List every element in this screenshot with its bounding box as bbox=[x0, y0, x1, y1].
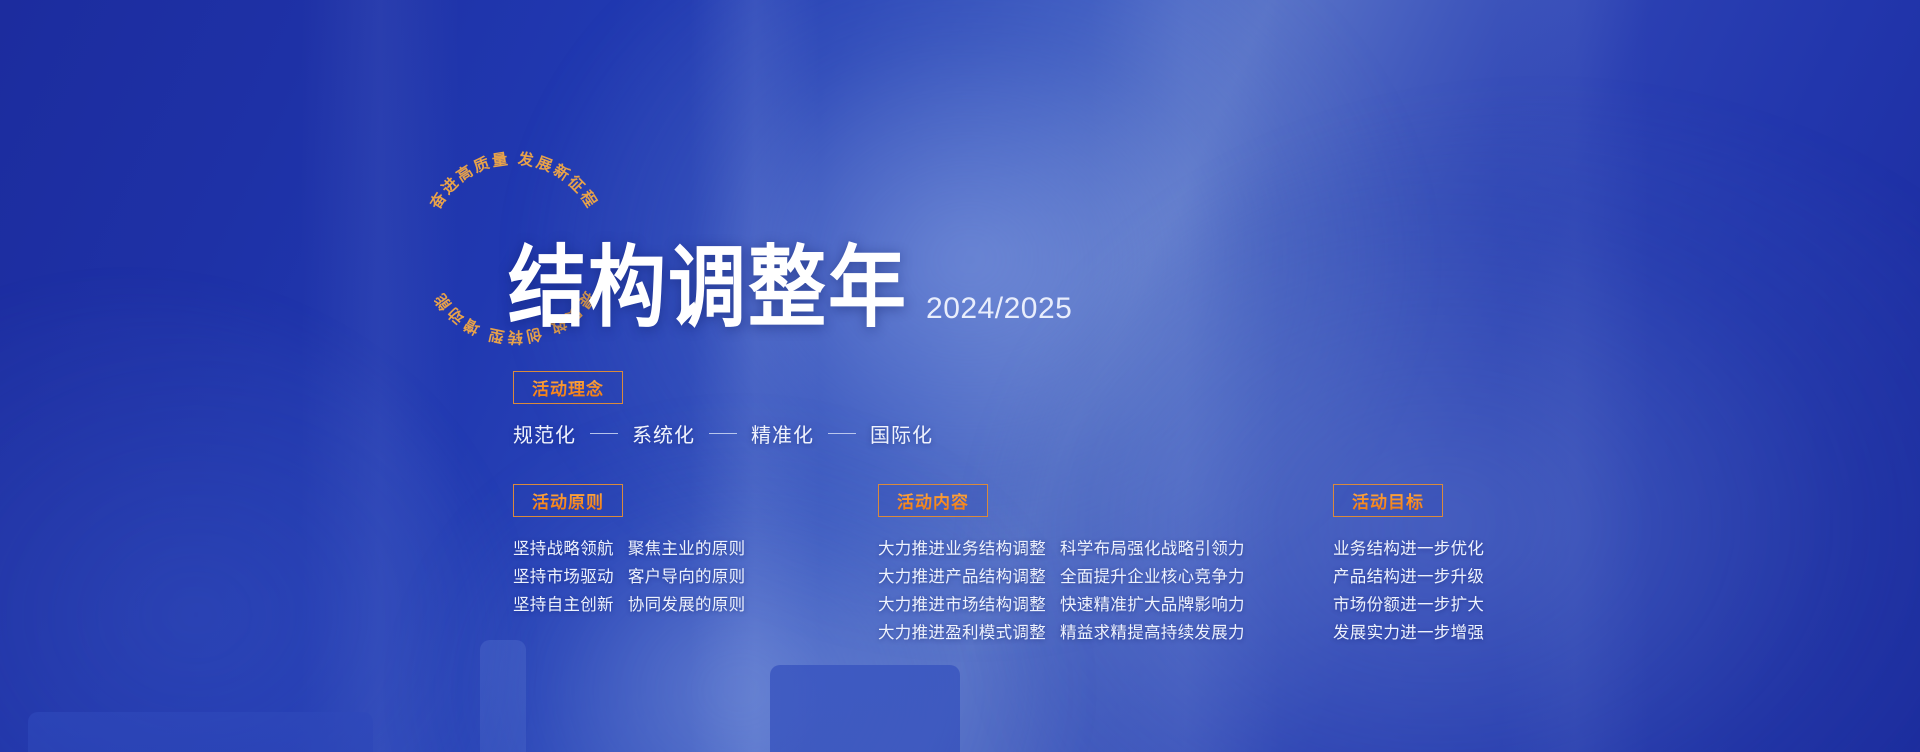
list-item-primary: 业务结构进一步优化 bbox=[1333, 535, 1484, 563]
list-item: 大力推进盈利模式调整精益求精提高持续发展力 bbox=[878, 619, 1245, 647]
list-item: 坚持战略领航聚焦主业的原则 bbox=[513, 535, 745, 563]
concept-badge: 活动理念 bbox=[513, 371, 623, 404]
ring-top-textpath: 奋进高质量 发展新征程 bbox=[425, 149, 601, 214]
column-goals: 活动目标 业务结构进一步优化产品结构进一步升级市场份额进一步扩大发展实力进一步增… bbox=[1333, 484, 1484, 647]
list-item-secondary: 快速精准扩大品牌影响力 bbox=[1060, 591, 1245, 619]
column-badge-wrap: 活动原则 bbox=[513, 484, 745, 517]
column-badge-wrap: 活动目标 bbox=[1333, 484, 1484, 517]
list-item: 坚持市场驱动客户导向的原则 bbox=[513, 563, 745, 591]
list-item-primary: 市场份额进一步扩大 bbox=[1333, 591, 1484, 619]
list-item: 发展实力进一步增强 bbox=[1333, 619, 1484, 647]
list-item-primary: 坚持市场驱动 bbox=[513, 563, 614, 591]
concept-badge-label: 活动理念 bbox=[532, 375, 604, 400]
list-item-primary: 坚持战略领航 bbox=[513, 535, 614, 563]
list-item-secondary: 聚焦主业的原则 bbox=[628, 535, 746, 563]
list-item-primary: 坚持自主创新 bbox=[513, 591, 614, 619]
concept-separator-dash bbox=[590, 433, 618, 435]
concept-keyword: 国际化 bbox=[870, 419, 933, 448]
ring-top-text: 奋进高质量 发展新征程 bbox=[425, 149, 601, 214]
title-row: 结构调整年 2024/2025 bbox=[508, 254, 1072, 332]
list-item-primary: 产品结构进一步升级 bbox=[1333, 563, 1484, 591]
list-item-secondary: 全面提升企业核心竞争力 bbox=[1060, 563, 1245, 591]
list-item: 市场份额进一步扩大 bbox=[1333, 591, 1484, 619]
column-contents: 活动内容 大力推进业务结构调整科学布局强化战略引领力大力推进产品结构调整全面提升… bbox=[878, 484, 1245, 647]
list-item-secondary: 客户导向的原则 bbox=[628, 563, 746, 591]
list-item: 大力推进产品结构调整全面提升企业核心竞争力 bbox=[878, 563, 1245, 591]
column-rows: 坚持战略领航聚焦主业的原则坚持市场驱动客户导向的原则坚持自主创新协同发展的原则 bbox=[513, 535, 745, 619]
column-rows: 大力推进业务结构调整科学布局强化战略引领力大力推进产品结构调整全面提升企业核心竞… bbox=[878, 535, 1245, 647]
list-item: 大力推进业务结构调整科学布局强化战略引领力 bbox=[878, 535, 1245, 563]
column-badge-label: 活动目标 bbox=[1352, 488, 1424, 513]
concept-keyword: 系统化 bbox=[632, 419, 695, 448]
list-item-primary: 发展实力进一步增强 bbox=[1333, 619, 1484, 647]
column-badge-wrap: 活动内容 bbox=[878, 484, 1245, 517]
list-item-primary: 大力推进市场结构调整 bbox=[878, 591, 1046, 619]
list-item: 业务结构进一步优化 bbox=[1333, 535, 1484, 563]
concept-keyword: 精准化 bbox=[751, 419, 814, 448]
list-item: 坚持自主创新协同发展的原则 bbox=[513, 591, 745, 619]
concept-separator-dash bbox=[828, 433, 856, 435]
column-rows: 业务结构进一步优化产品结构进一步升级市场份额进一步扩大发展实力进一步增强 bbox=[1333, 535, 1484, 647]
list-item-primary: 大力推进盈利模式调整 bbox=[878, 619, 1046, 647]
column-principles: 活动原则 坚持战略领航聚焦主业的原则坚持市场驱动客户导向的原则坚持自主创新协同发… bbox=[513, 484, 745, 619]
concept-keyword-list: 规范化系统化精准化国际化 bbox=[513, 419, 933, 448]
column-badge: 活动目标 bbox=[1333, 484, 1443, 517]
list-item: 产品结构进一步升级 bbox=[1333, 563, 1484, 591]
list-item-primary: 大力推进业务结构调整 bbox=[878, 535, 1046, 563]
list-item-secondary: 科学布局强化战略引领力 bbox=[1060, 535, 1245, 563]
column-badge-label: 活动原则 bbox=[532, 488, 604, 513]
column-badge: 活动内容 bbox=[878, 484, 988, 517]
column-badge: 活动原则 bbox=[513, 484, 623, 517]
list-item-secondary: 协同发展的原则 bbox=[628, 591, 746, 619]
concept-keyword: 规范化 bbox=[513, 419, 576, 448]
list-item-primary: 大力推进产品结构调整 bbox=[878, 563, 1046, 591]
list-item-secondary: 精益求精提高持续发展力 bbox=[1060, 619, 1245, 647]
concept-separator-dash bbox=[709, 433, 737, 435]
title-year: 2024/2025 bbox=[926, 292, 1072, 326]
column-badge-label: 活动内容 bbox=[897, 488, 969, 513]
page-title: 结构调整年 bbox=[508, 243, 908, 332]
list-item: 大力推进市场结构调整快速精准扩大品牌影响力 bbox=[878, 591, 1245, 619]
